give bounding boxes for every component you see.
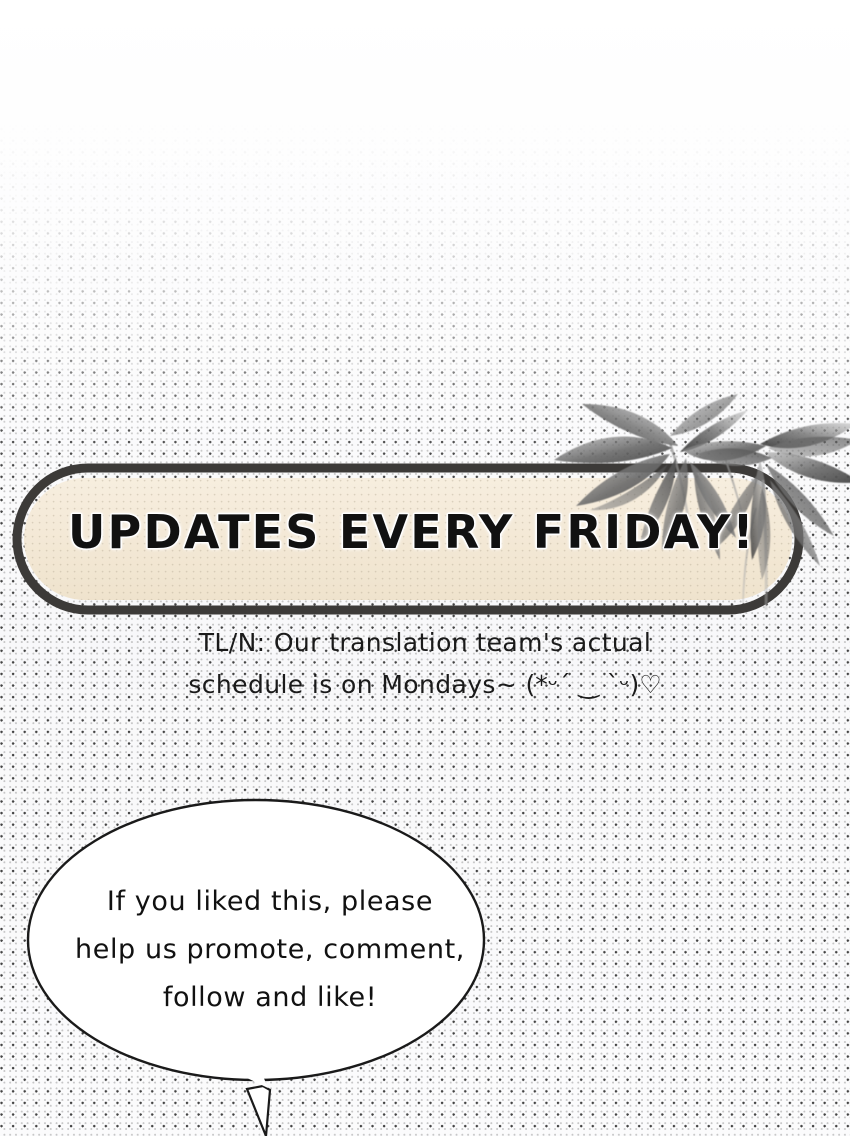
comic-page: UPDATES EVERY FRIDAY! xyxy=(0,0,850,1136)
translator-note-line-2-text: schedule is on Mondays~ xyxy=(188,670,525,699)
speech-bubble-tail xyxy=(247,1086,270,1136)
banner-title: UPDATES EVERY FRIDAY! xyxy=(68,505,768,559)
translator-note: TL/N: Our translation team's actual sche… xyxy=(0,622,850,706)
speech-bubble-line-3: follow and like! xyxy=(40,974,500,1022)
speech-bubble-text: If you liked this, please help us promot… xyxy=(40,878,500,1022)
kaomoji-heart-icon: (*ᵕ´ ‿ `ᵕ)♡ xyxy=(526,670,662,699)
translator-note-line-2: schedule is on Mondays~ (*ᵕ´ ‿ `ᵕ)♡ xyxy=(0,664,850,706)
speech-bubble-line-1: If you liked this, please xyxy=(40,878,500,926)
speech-bubble-line-2: help us promote, comment, xyxy=(40,926,500,974)
translator-note-line-1: TL/N: Our translation team's actual xyxy=(0,622,850,664)
